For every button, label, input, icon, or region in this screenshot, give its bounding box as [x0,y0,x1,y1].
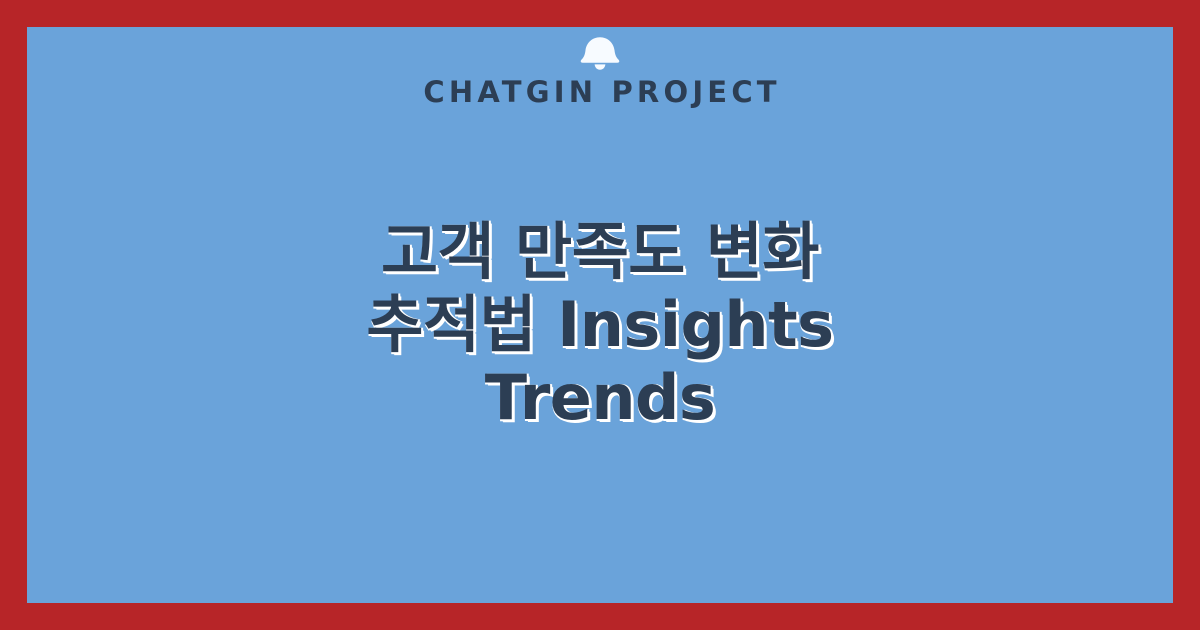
headline-block: 고객 만족도 변화 추적법 Insights Trends [320,215,880,434]
bell-icon [577,35,623,73]
brand-name: CHATGIN PROJECT [419,77,781,109]
card-panel: CHATGIN PROJECT 고객 만족도 변화 추적법 Insights T… [27,27,1173,603]
brand-block: CHATGIN PROJECT [27,35,1173,109]
promo-card: CHATGIN PROJECT 고객 만족도 변화 추적법 Insights T… [0,0,1200,630]
page-title: 고객 만족도 변화 추적법 Insights Trends [320,215,880,434]
